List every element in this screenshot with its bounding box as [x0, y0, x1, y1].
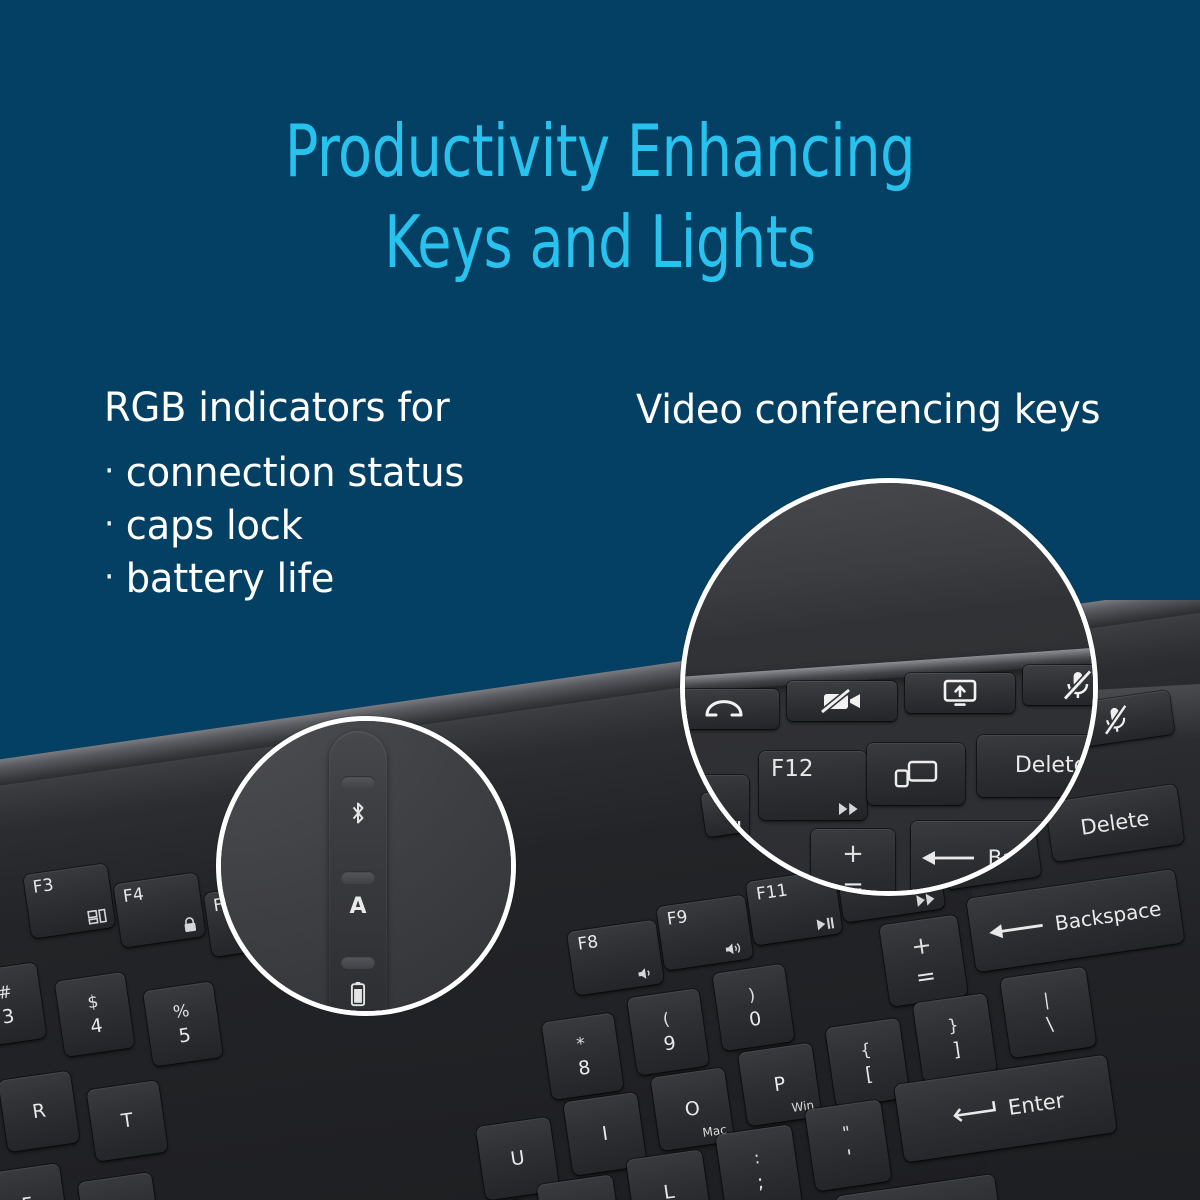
- key-8-shift: *: [575, 1033, 586, 1054]
- key-r[interactable]: R: [0, 1071, 80, 1153]
- lens-key-device-switch[interactable]: [867, 743, 965, 805]
- key-backslash[interactable]: | \: [1000, 967, 1097, 1058]
- key-plus-label: +: [909, 930, 933, 961]
- key-f4[interactable]: F4: [113, 872, 205, 947]
- key-0-label: 0: [748, 1007, 763, 1031]
- key-bracket-right[interactable]: } ]: [913, 993, 998, 1083]
- key-brace-left: {: [859, 1040, 873, 1061]
- bullet-label: battery life: [126, 553, 335, 606]
- bullet-label: connection status: [126, 447, 465, 500]
- led-connection: [341, 776, 375, 789]
- key-t[interactable]: T: [87, 1080, 169, 1162]
- key-9[interactable]: ( 9: [627, 988, 709, 1075]
- bullet-dot-icon: ·: [104, 553, 114, 602]
- lens-key-delete[interactable]: Delete: [977, 735, 1098, 797]
- key-f9-label: F9: [666, 909, 689, 929]
- indicator-strip: A: [329, 731, 387, 1016]
- video-conference-callout: F12 Delete: [680, 478, 1098, 896]
- list-item: · connection status: [104, 447, 603, 500]
- key-f[interactable]: F: [0, 1163, 69, 1200]
- lens-key-delete-label: Delete: [1015, 755, 1087, 777]
- rgb-indicator-callout: A: [216, 716, 516, 1016]
- fast-forward-icon: [916, 892, 938, 907]
- lens-key-backspace-label: Backspace: [988, 848, 1098, 869]
- key-4-shift: $: [86, 991, 100, 1012]
- lens-key-backspace[interactable]: Backspace: [911, 821, 1098, 895]
- key-f-label: F: [20, 1195, 34, 1200]
- key-l-label: L: [662, 1182, 675, 1200]
- left-feature-column: RGB indicators for · connection status ·…: [104, 386, 624, 606]
- key-semicolon[interactable]: : ;: [715, 1124, 802, 1200]
- key-f3[interactable]: F3: [23, 863, 115, 938]
- lens-key-f11[interactable]: [680, 775, 749, 839]
- key-doublequote-label: ": [841, 1122, 852, 1143]
- key-5-label: 5: [177, 1024, 192, 1048]
- bullet-dot-icon: ·: [104, 447, 114, 496]
- camera-off-icon: [820, 688, 864, 714]
- list-item: · caps lock: [104, 500, 603, 553]
- key-9-shift: (: [662, 1009, 671, 1030]
- promo-graphic: F3 F4 F5: [0, 0, 1200, 1200]
- key-r-label: R: [31, 1101, 47, 1122]
- key-0[interactable]: ) 0: [712, 964, 794, 1051]
- key-t-label: T: [120, 1111, 134, 1131]
- mic-mute-icon: [1099, 704, 1133, 736]
- key-enter-label: Enter: [1007, 1090, 1066, 1119]
- led-battery: [341, 956, 375, 969]
- key-f4-label: F4: [122, 886, 145, 906]
- task-view-icon: [87, 908, 108, 926]
- hangup-call-icon: [702, 698, 746, 720]
- key-apostrophe-label: ': [846, 1145, 854, 1168]
- multi-device-switch-icon: [894, 759, 938, 789]
- lens-key-camera-off[interactable]: [787, 681, 897, 721]
- lock-icon: [182, 916, 198, 934]
- key-f9[interactable]: F9: [656, 895, 753, 971]
- play-pause-icon: [815, 916, 835, 931]
- screen-share-icon: [943, 679, 977, 707]
- lens-key-plus-label: +: [842, 839, 864, 869]
- key-colon-label: :: [753, 1148, 762, 1169]
- battery-icon: [350, 981, 367, 1007]
- key-0-shift: ): [747, 985, 756, 1006]
- rgb-indicator-bullet-list: · connection status · caps lock · batter…: [104, 447, 624, 607]
- volume-up-icon: [724, 940, 746, 957]
- key-brace-right: }: [946, 1015, 960, 1036]
- key-5-shift: %: [172, 1001, 191, 1023]
- key-9-label: 9: [662, 1031, 677, 1054]
- key-f3-label: F3: [32, 877, 55, 897]
- key-equals-plus[interactable]: + =: [879, 915, 968, 1007]
- arrow-left-icon: [922, 851, 974, 865]
- key-f8-label: F8: [577, 934, 600, 954]
- key-bracket-right-label: ]: [951, 1038, 961, 1061]
- key-equals-label: =: [914, 961, 938, 992]
- left-column-title: RGB indicators for: [104, 386, 603, 431]
- bullet-label: caps lock: [126, 500, 303, 553]
- right-feature-column: Video conferencing keys: [636, 388, 1176, 433]
- lens-key-mic-mute[interactable]: [1023, 665, 1098, 705]
- key-backspace-label: Backspace: [1054, 898, 1163, 933]
- key-pipe-label: |: [1042, 990, 1051, 1011]
- page-title: Productivity Enhancing Keys and Lights: [84, 106, 1116, 287]
- key-quote[interactable]: " ': [805, 1099, 892, 1191]
- key-3-shift: #: [0, 982, 13, 1004]
- key-5[interactable]: % 5: [143, 981, 223, 1066]
- lens-key-hangup-call[interactable]: [680, 689, 779, 729]
- key-semicolon-label: ;: [756, 1170, 765, 1193]
- key-bracket-left-label: [: [864, 1063, 874, 1086]
- mic-mute-icon: [1062, 670, 1094, 700]
- bluetooth-icon: [350, 801, 367, 825]
- key-8[interactable]: * 8: [542, 1013, 624, 1100]
- key-i-label: I: [601, 1124, 609, 1144]
- key-4[interactable]: $ 4: [55, 972, 135, 1057]
- key-f8[interactable]: F8: [567, 920, 664, 996]
- lens-key-f12-label: F12: [771, 758, 814, 781]
- lens-key-plus-equals[interactable]: + =: [811, 829, 895, 896]
- key-3[interactable]: # 3: [0, 962, 47, 1047]
- play-pause-icon: [723, 821, 741, 833]
- volume-down-icon: [637, 965, 657, 981]
- lens-key-f12[interactable]: F12: [759, 751, 867, 820]
- arrow-left-icon: [989, 918, 1044, 940]
- key-8-label: 8: [577, 1056, 592, 1080]
- right-column-title: Video conferencing keys: [636, 388, 1154, 433]
- fast-forward-icon: [839, 803, 860, 815]
- bullet-dot-icon: ·: [104, 500, 114, 549]
- key-3-label: 3: [1, 1005, 16, 1029]
- lens-key-screen-share[interactable]: [905, 673, 1015, 713]
- key-4-label: 4: [89, 1014, 104, 1038]
- list-item: · battery life: [104, 553, 603, 606]
- key-u-label: U: [509, 1148, 525, 1169]
- caps-lock-icon: A: [349, 894, 366, 919]
- caps-lock-letter: A: [349, 894, 366, 919]
- key-backslash-label: \: [1045, 1012, 1054, 1035]
- key-o-label: O: [684, 1099, 702, 1120]
- key-p-label: P: [773, 1074, 787, 1094]
- led-caps-lock: [341, 871, 375, 884]
- enter-arrow-icon: [945, 1100, 997, 1127]
- key-g[interactable]: G: [78, 1172, 162, 1200]
